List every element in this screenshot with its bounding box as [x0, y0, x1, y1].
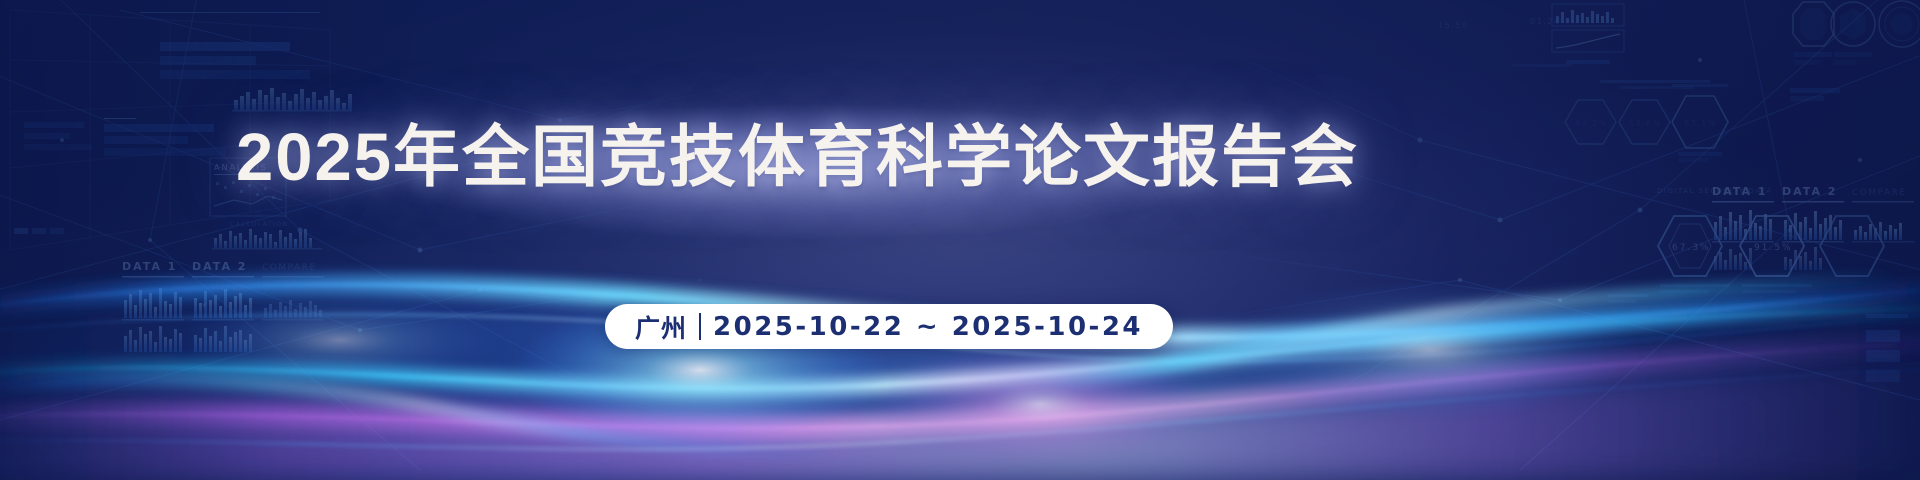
wave-hotspot-left [180, 294, 500, 386]
pill-divider [699, 313, 701, 340]
event-date-range: 2025-10-22 ~ 2025-10-24 [713, 312, 1143, 342]
event-city: 广州 [635, 309, 687, 345]
event-meta-pill: 广州 2025-10-22 ~ 2025-10-24 [605, 304, 1173, 349]
event-banner: ANALYSIS CALCULATION [0, 0, 1920, 480]
wave-hotspot-right [1220, 280, 1640, 420]
wave-hotspot-magenta [870, 342, 1210, 466]
page-title: 2025年全国竞技体育科学论文报告会 [236, 118, 1696, 198]
